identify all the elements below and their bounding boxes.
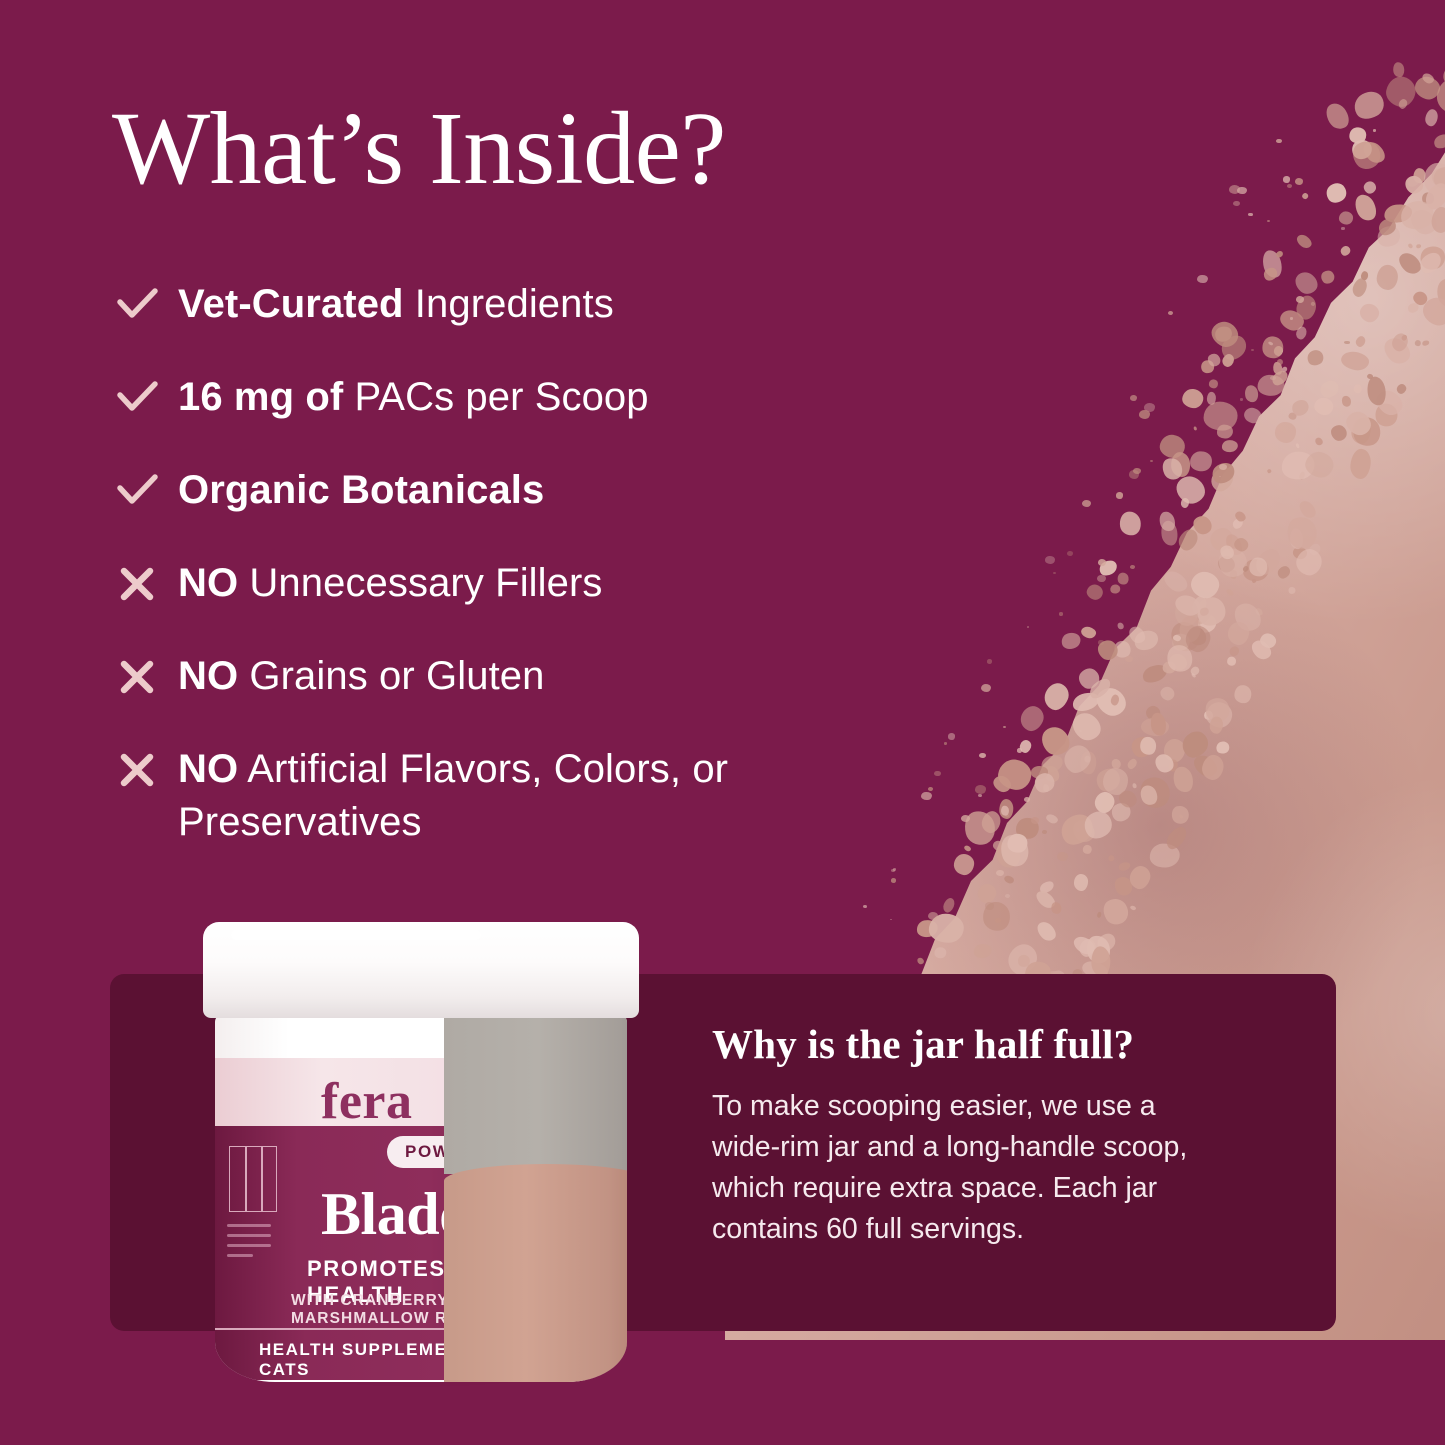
list-item-rest: Grains or Gluten (238, 654, 544, 698)
list-item-label: Vet-Curated Ingredients (178, 276, 614, 331)
list-item: Vet-Curated Ingredients (112, 276, 992, 369)
list-item-label: NO Grains or Gluten (178, 648, 544, 703)
list-item-label: Organic Botanicals (178, 462, 544, 517)
check-icon (112, 276, 178, 330)
infographic-stage: What’s Inside? Vet-Curated Ingredients 1… (0, 0, 1445, 1445)
label-microcopy (227, 1224, 271, 1264)
card-title: Why is the jar half full? (712, 1024, 1134, 1065)
list-item-rest: Ingredients (404, 282, 614, 326)
list-item-rest: Artificial Flavors, Colors, or Preservat… (178, 747, 728, 844)
check-icon (112, 462, 178, 516)
lid-highlight (231, 930, 481, 940)
list-item: Organic Botanicals (112, 462, 992, 555)
list-item-lead: 16 mg of (178, 375, 343, 419)
list-item: NO Artificial Flavors, Colors, or Preser… (112, 741, 992, 849)
cross-icon (112, 741, 178, 795)
list-item: 16 mg of PACs per Scoop (112, 369, 992, 462)
jar-body: fera POWDER Bladder PROMOTES BLADDER HEA… (215, 1014, 627, 1382)
list-item-label: 16 mg of PACs per Scoop (178, 369, 649, 424)
list-item-lead: NO (178, 561, 238, 605)
check-icon (112, 369, 178, 423)
list-item-lead: NO (178, 747, 238, 791)
product-jar: fera POWDER Bladder PROMOTES BLADDER HEA… (193, 922, 648, 1384)
list-item-label: NO Unnecessary Fillers (178, 555, 603, 610)
cross-icon (112, 555, 178, 609)
list-item: NO Grains or Gluten (112, 648, 992, 741)
jar-lid (203, 922, 639, 1018)
dosage-chart-icon (229, 1146, 277, 1212)
cutaway-empty-space (444, 1014, 627, 1174)
page-title: What’s Inside? (112, 97, 726, 201)
list-item-lead: NO (178, 654, 238, 698)
brand-logo: fera (321, 1072, 412, 1131)
benefits-list: Vet-Curated Ingredients 16 mg of PACs pe… (112, 276, 992, 849)
list-item-rest: PACs per Scoop (343, 375, 648, 419)
jar-cutaway (444, 1014, 627, 1382)
card-body: To make scooping easier, we use a wide-r… (712, 1086, 1212, 1250)
list-item-lead: Organic Botanicals (178, 468, 544, 512)
list-item: NO Unnecessary Fillers (112, 555, 992, 648)
cutaway-powder-fill (444, 1164, 627, 1382)
list-item-lead: Vet-Curated (178, 282, 404, 326)
list-item-label: NO Artificial Flavors, Colors, or Preser… (178, 741, 978, 849)
list-item-rest: Unnecessary Fillers (238, 561, 602, 605)
cross-icon (112, 648, 178, 702)
